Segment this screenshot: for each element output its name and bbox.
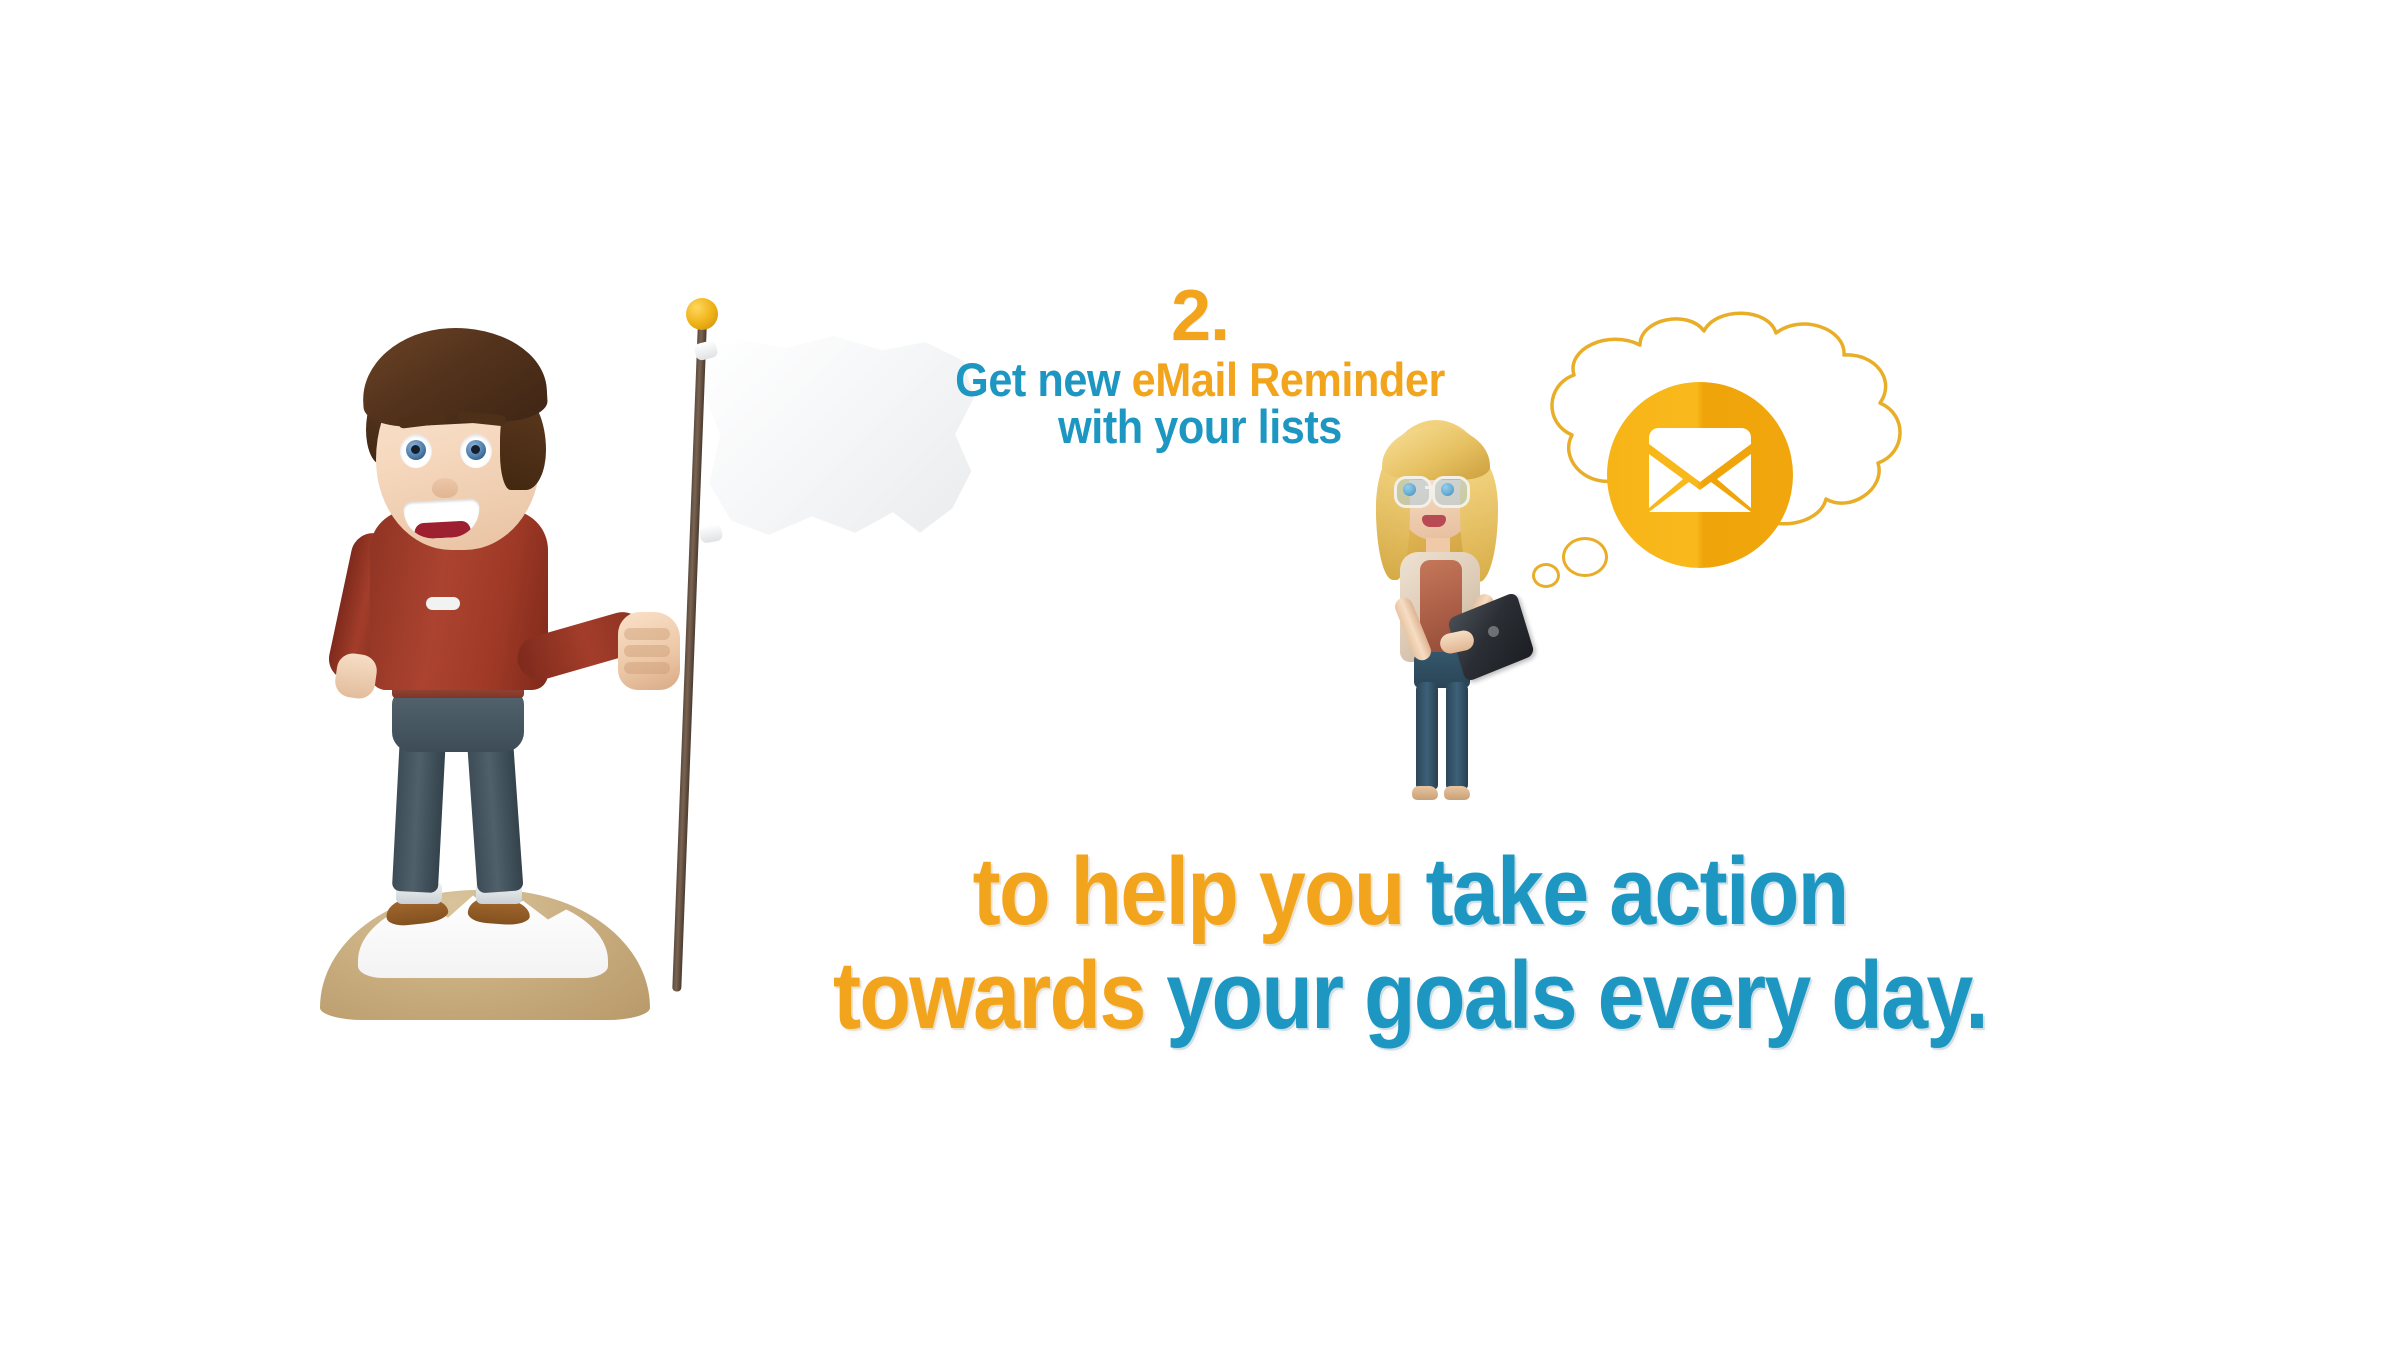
woman-with-tablet-character xyxy=(1370,420,1540,820)
statement-towards: towards xyxy=(833,942,1166,1049)
shoe-right xyxy=(1444,786,1470,800)
knuckle-1 xyxy=(624,628,670,640)
hair xyxy=(360,323,549,428)
statement-take-action: take action xyxy=(1425,838,1847,945)
hair-bangs xyxy=(1382,426,1490,480)
slide-canvas: 2. Get new eMail Reminder with your list… xyxy=(0,0,2400,1350)
knuckle-3 xyxy=(624,662,670,674)
statement-to-help-you: to help you xyxy=(973,838,1426,945)
hips xyxy=(392,692,524,752)
main-statement-line-1: to help you take action xyxy=(697,840,2123,944)
step-number: 2. xyxy=(880,280,1520,352)
shoe-left xyxy=(1412,786,1438,800)
main-statement: to help you take action towards your goa… xyxy=(600,840,2220,1047)
sweater-logo-patch xyxy=(426,597,460,610)
leg-right xyxy=(466,731,523,894)
hand-left xyxy=(333,651,379,700)
leg-left xyxy=(392,731,446,893)
leg-left xyxy=(1416,682,1438,790)
pupil-right xyxy=(471,445,480,454)
headline-email-reminder: eMail Reminder xyxy=(1132,353,1445,406)
flag-tie-bottom xyxy=(699,523,724,544)
smiling-mouth xyxy=(403,498,481,540)
envelope-icon xyxy=(1641,424,1759,516)
pupil-left xyxy=(411,445,420,454)
fist-gripping-pole xyxy=(618,612,680,690)
nose xyxy=(432,478,458,498)
thought-tail-bubble-small xyxy=(1532,563,1560,588)
headline-line-1: Get new eMail Reminder xyxy=(906,356,1495,403)
mouth xyxy=(1422,515,1446,527)
eyeglass-bridge xyxy=(1425,486,1435,489)
eyeglass-lens-right xyxy=(1432,476,1470,508)
knuckle-2 xyxy=(624,645,670,657)
thought-tail-bubble-large xyxy=(1562,537,1608,577)
leg-right xyxy=(1446,682,1468,790)
flagpole-finial-icon xyxy=(686,298,718,330)
headline-get-new: Get new xyxy=(955,353,1132,406)
statement-your-goals-every-day: your goals every day. xyxy=(1166,942,1987,1049)
main-statement-line-2: towards your goals every day. xyxy=(697,944,2123,1048)
tongue xyxy=(414,521,471,540)
eyeglass-lens-left xyxy=(1394,476,1432,508)
